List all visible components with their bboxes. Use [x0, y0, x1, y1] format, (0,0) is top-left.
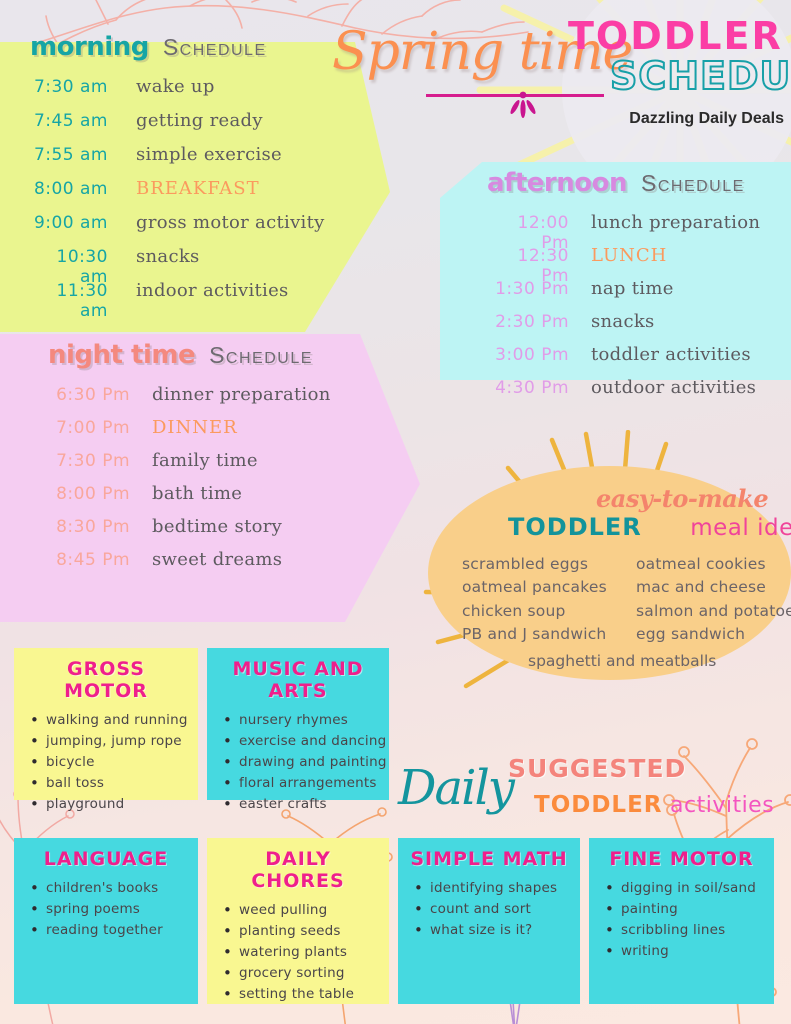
- card-title: SIMPLE MATH: [410, 848, 568, 870]
- daily-activities-heading: Daily SUGGESTED TODDLER activities: [398, 752, 778, 832]
- row-task: LUNCH: [591, 245, 667, 266]
- row-task: lunch preparation: [591, 212, 760, 233]
- card-list-item: floral arrangements: [219, 773, 377, 794]
- schedule-row: 3:00 Pmtoddler activities: [487, 344, 760, 374]
- night-heading-label: Schedule: [209, 342, 313, 369]
- daily-script-word: Daily: [398, 760, 513, 816]
- afternoon-schedule-heading: afternoon Schedule: [487, 168, 760, 198]
- meal-item: PB and J sandwich: [462, 624, 622, 645]
- daily-suggested-word: SUGGESTED: [508, 754, 686, 783]
- night-heading-word: night time: [48, 340, 195, 370]
- schedule-row: 7:45 amgetting ready: [30, 110, 325, 141]
- row-time: 7:30 Pm: [48, 451, 130, 471]
- meal-column-left: scrambled eggs oatmeal pancakes chicken …: [462, 554, 622, 646]
- schedule-row: 4:30 Pmoutdoor activities: [487, 377, 760, 407]
- meal-toddler-word: TODDLER: [508, 513, 642, 541]
- card-title: FINE MOTOR: [601, 848, 762, 870]
- row-task: BREAKFAST: [136, 178, 260, 199]
- row-task: snacks: [136, 246, 200, 267]
- schedule-row: 10:30 amsnacks: [30, 246, 325, 277]
- meal-item: scrambled eggs: [462, 554, 622, 575]
- card-list-item: painting: [601, 899, 762, 920]
- daily-activities-word: activities: [670, 793, 774, 818]
- row-task: simple exercise: [136, 144, 282, 165]
- schedule-row: 12:30 PmLUNCH: [487, 245, 760, 275]
- schedule-row: 7:00 PmDINNER: [48, 417, 331, 447]
- card-list-item: easter crafts: [219, 794, 377, 815]
- meal-item: chicken soup: [462, 601, 622, 622]
- schedule-row: 7:30 Pmfamily time: [48, 450, 331, 480]
- row-task: dinner preparation: [152, 384, 331, 405]
- schedule-row: 7:30 amwake up: [30, 76, 325, 107]
- row-time: 9:00 am: [30, 213, 108, 233]
- row-time: 8:00 Pm: [48, 484, 130, 504]
- card-list-item: walking and running: [26, 710, 186, 731]
- meal-ideas-heading: TODDLER meal ideas: [508, 513, 791, 541]
- card-list-item: children's books: [26, 878, 186, 899]
- afternoon-heading-word: afternoon: [487, 168, 627, 198]
- row-time: 2:30 Pm: [487, 312, 569, 332]
- card-item-list: identifying shapes count and sort what s…: [410, 878, 568, 941]
- brand-name: Dazzling Daily Deals: [629, 110, 784, 128]
- card-list-item: what size is it?: [410, 920, 568, 941]
- afternoon-schedule-rows: 12:00 Pmlunch preparation 12:30 PmLUNCH …: [487, 212, 760, 407]
- afternoon-schedule-section: afternoon Schedule 12:00 Pmlunch prepara…: [487, 168, 760, 410]
- meal-item: salmon and potatoes: [636, 601, 791, 622]
- row-time: 11:30 am: [30, 281, 108, 321]
- row-task: gross motor activity: [136, 212, 325, 233]
- activity-card-gross-motor: GROSS MOTOR walking and running jumping,…: [14, 648, 198, 800]
- morning-schedule-heading: morning Schedule: [30, 32, 325, 62]
- card-title: MUSIC AND ARTS: [219, 658, 377, 702]
- card-list-item: count and sort: [410, 899, 568, 920]
- poster-title-block: Spring time TODDLER SCHEDULE Dazzling Da…: [330, 8, 790, 148]
- row-time: 7:30 am: [30, 77, 108, 97]
- meal-item: egg sandwich: [636, 624, 791, 645]
- card-list-item: ball toss: [26, 773, 186, 794]
- card-item-list: weed pulling planting seeds watering pla…: [219, 900, 377, 1005]
- card-list-item: planting seeds: [219, 921, 377, 942]
- meal-item: mac and cheese: [636, 577, 791, 598]
- night-schedule-section: night time Schedule 6:30 Pmdinner prepar…: [48, 340, 331, 582]
- card-list-item: jumping, jump rope: [26, 731, 186, 752]
- schedule-row: 7:55 amsimple exercise: [30, 144, 325, 175]
- activity-card-music-and-arts: MUSIC AND ARTS nursery rhymes exercise a…: [207, 648, 389, 800]
- row-time: 3:00 Pm: [487, 345, 569, 365]
- schedule-row: 11:30 amindoor activities: [30, 280, 325, 311]
- title-schedule-word: SCHEDULE: [610, 54, 791, 98]
- row-time: 7:55 am: [30, 145, 108, 165]
- row-time: 4:30 Pm: [487, 378, 569, 398]
- card-list-item: nursery rhymes: [219, 710, 377, 731]
- schedule-row: 12:00 Pmlunch preparation: [487, 212, 760, 242]
- meal-column-right: oatmeal cookies mac and cheese salmon an…: [636, 554, 791, 646]
- card-item-list: children's books spring poems reading to…: [26, 878, 186, 941]
- row-time: 8:00 am: [30, 179, 108, 199]
- meal-item: oatmeal pancakes: [462, 577, 622, 598]
- meal-ideas-columns: scrambled eggs oatmeal pancakes chicken …: [462, 554, 791, 646]
- card-list-item: drawing and painting: [219, 752, 377, 773]
- toddler-schedule-poster: Spring time TODDLER SCHEDULE Dazzling Da…: [0, 0, 791, 1024]
- morning-heading-word: morning: [30, 32, 149, 62]
- card-list-item: writing: [601, 941, 762, 962]
- morning-schedule-section: morning Schedule 7:30 amwake up 7:45 amg…: [30, 32, 325, 314]
- flower-icon: [506, 88, 540, 122]
- card-list-item: exercise and dancing: [219, 731, 377, 752]
- daily-toddler-word: TODDLER: [534, 792, 663, 818]
- row-task: toddler activities: [591, 344, 751, 365]
- card-title: DAILY CHORES: [219, 848, 377, 892]
- schedule-row: 6:30 Pmdinner preparation: [48, 384, 331, 414]
- morning-schedule-rows: 7:30 amwake up 7:45 amgetting ready 7:55…: [30, 76, 325, 311]
- card-list-item: playground: [26, 794, 186, 815]
- schedule-row: 8:00 amBREAKFAST: [30, 178, 325, 209]
- meal-item: oatmeal cookies: [636, 554, 791, 575]
- activity-card-simple-math: SIMPLE MATH identifying shapes count and…: [398, 838, 580, 1004]
- night-schedule-heading: night time Schedule: [48, 340, 331, 370]
- schedule-row: 9:00 amgross motor activity: [30, 212, 325, 243]
- schedule-row: 1:30 Pmnap time: [487, 278, 760, 308]
- activity-card-language: LANGUAGE children's books spring poems r…: [14, 838, 198, 1004]
- row-time: 8:30 Pm: [48, 517, 130, 537]
- afternoon-heading-label: Schedule: [641, 170, 745, 197]
- meal-easy-to-make-label: easy-to-make: [596, 484, 768, 513]
- meal-item: spaghetti and meatballs: [528, 652, 716, 670]
- card-item-list: nursery rhymes exercise and dancing draw…: [219, 710, 377, 815]
- card-title: LANGUAGE: [26, 848, 186, 870]
- activity-card-fine-motor: FINE MOTOR digging in soil/sand painting…: [589, 838, 774, 1004]
- card-item-list: walking and running jumping, jump rope b…: [26, 710, 186, 815]
- card-list-item: spring poems: [26, 899, 186, 920]
- schedule-row: 8:00 Pmbath time: [48, 483, 331, 513]
- row-task: DINNER: [152, 417, 238, 438]
- row-task: getting ready: [136, 110, 263, 131]
- row-time: 1:30 Pm: [487, 279, 569, 299]
- row-time: 8:45 Pm: [48, 550, 130, 570]
- card-title: GROSS MOTOR: [26, 658, 186, 702]
- row-task: sweet dreams: [152, 549, 282, 570]
- night-schedule-rows: 6:30 Pmdinner preparation 7:00 PmDINNER …: [48, 384, 331, 579]
- card-item-list: digging in soil/sand painting scribbling…: [601, 878, 762, 962]
- card-list-item: identifying shapes: [410, 878, 568, 899]
- row-task: bedtime story: [152, 516, 282, 537]
- schedule-row: 8:30 Pmbedtime story: [48, 516, 331, 546]
- schedule-row: 8:45 Pmsweet dreams: [48, 549, 331, 579]
- card-list-item: reading together: [26, 920, 186, 941]
- card-list-item: digging in soil/sand: [601, 878, 762, 899]
- card-list-item: watering plants: [219, 942, 377, 963]
- schedule-row: 2:30 Pmsnacks: [487, 311, 760, 341]
- row-task: bath time: [152, 483, 242, 504]
- activity-card-daily-chores: DAILY CHORES weed pulling planting seeds…: [207, 838, 389, 1004]
- morning-heading-label: Schedule: [163, 34, 267, 61]
- row-time: 6:30 Pm: [48, 385, 130, 405]
- row-task: nap time: [591, 278, 674, 299]
- title-toddler-word: TODDLER: [568, 14, 783, 58]
- card-list-item: setting the table: [219, 984, 377, 1005]
- meal-ideas-label: meal ideas: [690, 515, 791, 541]
- card-list-item: scribbling lines: [601, 920, 762, 941]
- card-list-item: bicycle: [26, 752, 186, 773]
- row-task: family time: [152, 450, 258, 471]
- row-task: indoor activities: [136, 280, 289, 301]
- card-list-item: weed pulling: [219, 900, 377, 921]
- row-time: 7:00 Pm: [48, 418, 130, 438]
- card-list-item: grocery sorting: [219, 963, 377, 984]
- row-task: outdoor activities: [591, 377, 756, 398]
- row-task: snacks: [591, 311, 655, 332]
- row-time: 7:45 am: [30, 111, 108, 131]
- row-task: wake up: [136, 76, 215, 97]
